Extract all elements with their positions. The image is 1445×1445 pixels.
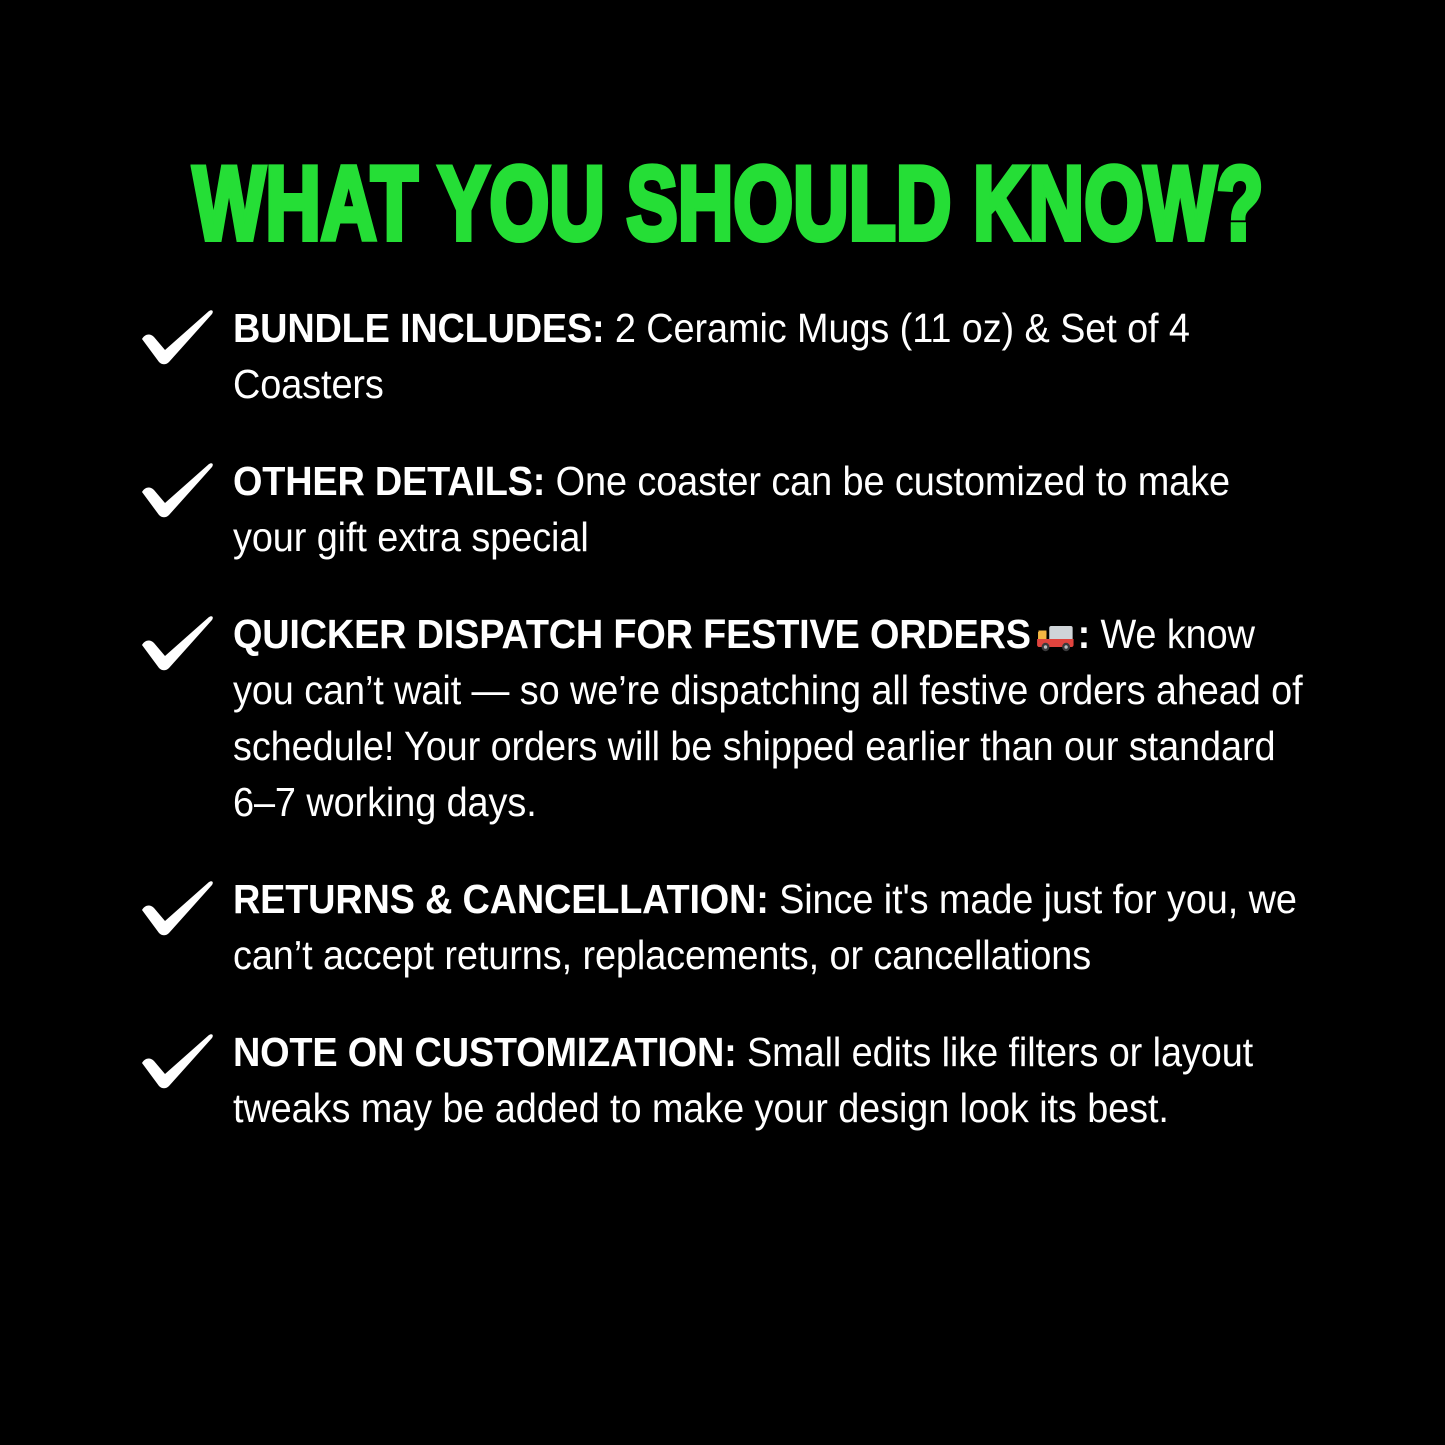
list-item-text: OTHER DETAILS: One coaster can be custom… xyxy=(233,453,1309,565)
list-item-text: BUNDLE INCLUDES: 2 Ceramic Mugs (11 oz) … xyxy=(233,300,1309,412)
list-item: RETURNS & CANCELLATION: Since it's made … xyxy=(139,871,1309,983)
list-item-label: NOTE ON CUSTOMIZATION: xyxy=(233,1029,737,1075)
info-bullet-list: BUNDLE INCLUDES: 2 Ceramic Mugs (11 oz) … xyxy=(139,300,1309,1136)
list-item-label: OTHER DETAILS: xyxy=(233,458,545,504)
list-item: OTHER DETAILS: One coaster can be custom… xyxy=(139,453,1309,565)
page-title: WHAT YOU SHOULD KNOW? xyxy=(193,152,1264,256)
list-item: NOTE ON CUSTOMIZATION: Small edits like … xyxy=(139,1024,1309,1136)
list-item-text: QUICKER DISPATCH FOR FESTIVE ORDERS: We … xyxy=(233,606,1309,830)
list-item-label: QUICKER DISPATCH FOR FESTIVE ORDERS xyxy=(233,611,1031,657)
checkmark-icon xyxy=(139,614,217,672)
list-item-label-suffix: : xyxy=(1078,611,1090,657)
title-container: WHAT YOU SHOULD KNOW? xyxy=(0,152,1445,256)
checkmark-icon xyxy=(139,879,217,937)
checkmark-icon xyxy=(139,308,217,366)
delivery-truck-icon xyxy=(1036,622,1077,652)
list-item: QUICKER DISPATCH FOR FESTIVE ORDERS: We … xyxy=(139,606,1309,830)
list-item-label: RETURNS & CANCELLATION: xyxy=(233,876,769,922)
list-item-text: NOTE ON CUSTOMIZATION: Small edits like … xyxy=(233,1024,1309,1136)
poster-root: WHAT YOU SHOULD KNOW? BUNDLE INCLUDES: 2… xyxy=(0,0,1445,1445)
checkmark-icon xyxy=(139,461,217,519)
list-item-text: RETURNS & CANCELLATION: Since it's made … xyxy=(233,871,1309,983)
list-item-label: BUNDLE INCLUDES: xyxy=(233,305,604,351)
list-item: BUNDLE INCLUDES: 2 Ceramic Mugs (11 oz) … xyxy=(139,300,1309,412)
checkmark-icon xyxy=(139,1032,217,1090)
